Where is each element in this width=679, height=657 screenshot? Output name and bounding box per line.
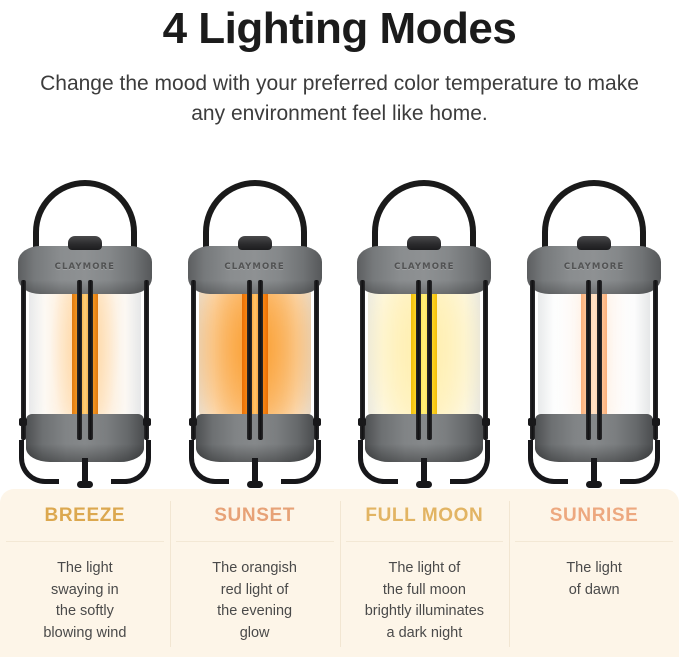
mode-title-sunrise: SUNRISE bbox=[550, 506, 639, 527]
led-tube-sunrise bbox=[581, 288, 607, 418]
cage-bar-center-right bbox=[427, 280, 432, 440]
mode-description-sunset: The orangish red light of the evening gl… bbox=[212, 558, 297, 645]
lantern-top-cap: CLAYMORE bbox=[18, 246, 152, 294]
mode-description-card: BREEZE The light swaying in the softly b… bbox=[0, 489, 679, 657]
cage-bar-left bbox=[360, 280, 365, 440]
mode-divider bbox=[176, 541, 334, 542]
lantern-sunset: CLAYMORE bbox=[181, 176, 329, 488]
lantern-top-cap: CLAYMORE bbox=[188, 246, 322, 294]
lantern-glass bbox=[29, 286, 141, 420]
lantern-base bbox=[26, 414, 144, 462]
cage-bar-right bbox=[314, 280, 319, 440]
lantern-base bbox=[196, 414, 314, 462]
mode-description-breeze: The light swaying in the softly blowing … bbox=[43, 558, 126, 645]
cage-nub-right bbox=[313, 418, 321, 426]
cage-bar-center-right bbox=[597, 280, 602, 440]
cap-shadow bbox=[527, 280, 661, 294]
brand-label: CLAYMORE bbox=[527, 262, 661, 272]
cage-nub-left bbox=[189, 418, 197, 426]
mode-divider bbox=[515, 541, 673, 542]
lantern-top-cap: CLAYMORE bbox=[527, 246, 661, 294]
cage-nub-right bbox=[482, 418, 490, 426]
lantern-sunrise: CLAYMORE bbox=[520, 176, 668, 488]
lantern-foot bbox=[416, 481, 432, 488]
mode-divider bbox=[346, 541, 504, 542]
mode-title-sunset: SUNSET bbox=[214, 506, 295, 527]
lantern-foot bbox=[247, 481, 263, 488]
power-button-icon bbox=[68, 236, 102, 250]
cage-nub-left bbox=[19, 418, 27, 426]
header: 4 Lighting Modes Change the mood with yo… bbox=[0, 0, 679, 129]
cage-bar-center-right bbox=[258, 280, 263, 440]
cage-bar-right bbox=[483, 280, 488, 440]
led-tube-sunset bbox=[242, 288, 268, 418]
lantern-full-moon: CLAYMORE bbox=[350, 176, 498, 488]
brand-label: CLAYMORE bbox=[357, 262, 491, 272]
power-button-icon bbox=[577, 236, 611, 250]
cage-bar-left bbox=[191, 280, 196, 440]
lantern-breeze: CLAYMORE bbox=[11, 176, 159, 488]
lighting-modes-page: 4 Lighting Modes Change the mood with yo… bbox=[0, 0, 679, 657]
cage-bar-center-left bbox=[247, 280, 252, 440]
cage-nub-right bbox=[652, 418, 660, 426]
lantern-base bbox=[535, 414, 653, 462]
lantern-foot bbox=[77, 481, 93, 488]
mode-description-sunrise: The light of dawn bbox=[566, 558, 622, 602]
mode-description-full-moon: The light of the full moon brightly illu… bbox=[365, 558, 484, 645]
power-button-icon bbox=[238, 236, 272, 250]
page-title: 4 Lighting Modes bbox=[0, 4, 679, 53]
mode-column-sunset: SUNSET The orangish red light of the eve… bbox=[170, 489, 340, 657]
page-subtitle: Change the mood with your preferred colo… bbox=[35, 69, 645, 129]
cage-nub-right bbox=[143, 418, 151, 426]
brand-label: CLAYMORE bbox=[188, 262, 322, 272]
cage-bar-left bbox=[530, 280, 535, 440]
mode-column-breeze: BREEZE The light swaying in the softly b… bbox=[0, 489, 170, 657]
cage-bar-center-left bbox=[77, 280, 82, 440]
cap-shadow bbox=[357, 280, 491, 294]
cage-bar-right bbox=[653, 280, 658, 440]
cage-nub-left bbox=[358, 418, 366, 426]
cage-bar-center-left bbox=[416, 280, 421, 440]
cap-shadow bbox=[188, 280, 322, 294]
lantern-foot bbox=[586, 481, 602, 488]
led-tube-full-moon bbox=[411, 288, 437, 418]
lantern-top-cap: CLAYMORE bbox=[357, 246, 491, 294]
mode-column-full-moon: FULL MOON The light of the full moon bri… bbox=[340, 489, 510, 657]
cage-bar-left bbox=[21, 280, 26, 440]
lantern-glass bbox=[538, 286, 650, 420]
power-button-icon bbox=[407, 236, 441, 250]
cage-bar-center-right bbox=[88, 280, 93, 440]
mode-column-sunrise: SUNRISE The light of dawn bbox=[509, 489, 679, 657]
lantern-glass bbox=[199, 286, 311, 420]
cage-nub-left bbox=[528, 418, 536, 426]
mode-title-full-moon: FULL MOON bbox=[365, 506, 483, 527]
brand-label: CLAYMORE bbox=[18, 262, 152, 272]
cap-shadow bbox=[18, 280, 152, 294]
cage-bar-center-left bbox=[586, 280, 591, 440]
led-tube-breeze bbox=[72, 288, 98, 418]
lantern-base bbox=[365, 414, 483, 462]
mode-title-breeze: BREEZE bbox=[45, 506, 126, 527]
cage-bar-right bbox=[144, 280, 149, 440]
lantern-glass bbox=[368, 286, 480, 420]
mode-divider bbox=[6, 541, 164, 542]
lantern-gallery: CLAYMORE bbox=[0, 163, 679, 488]
